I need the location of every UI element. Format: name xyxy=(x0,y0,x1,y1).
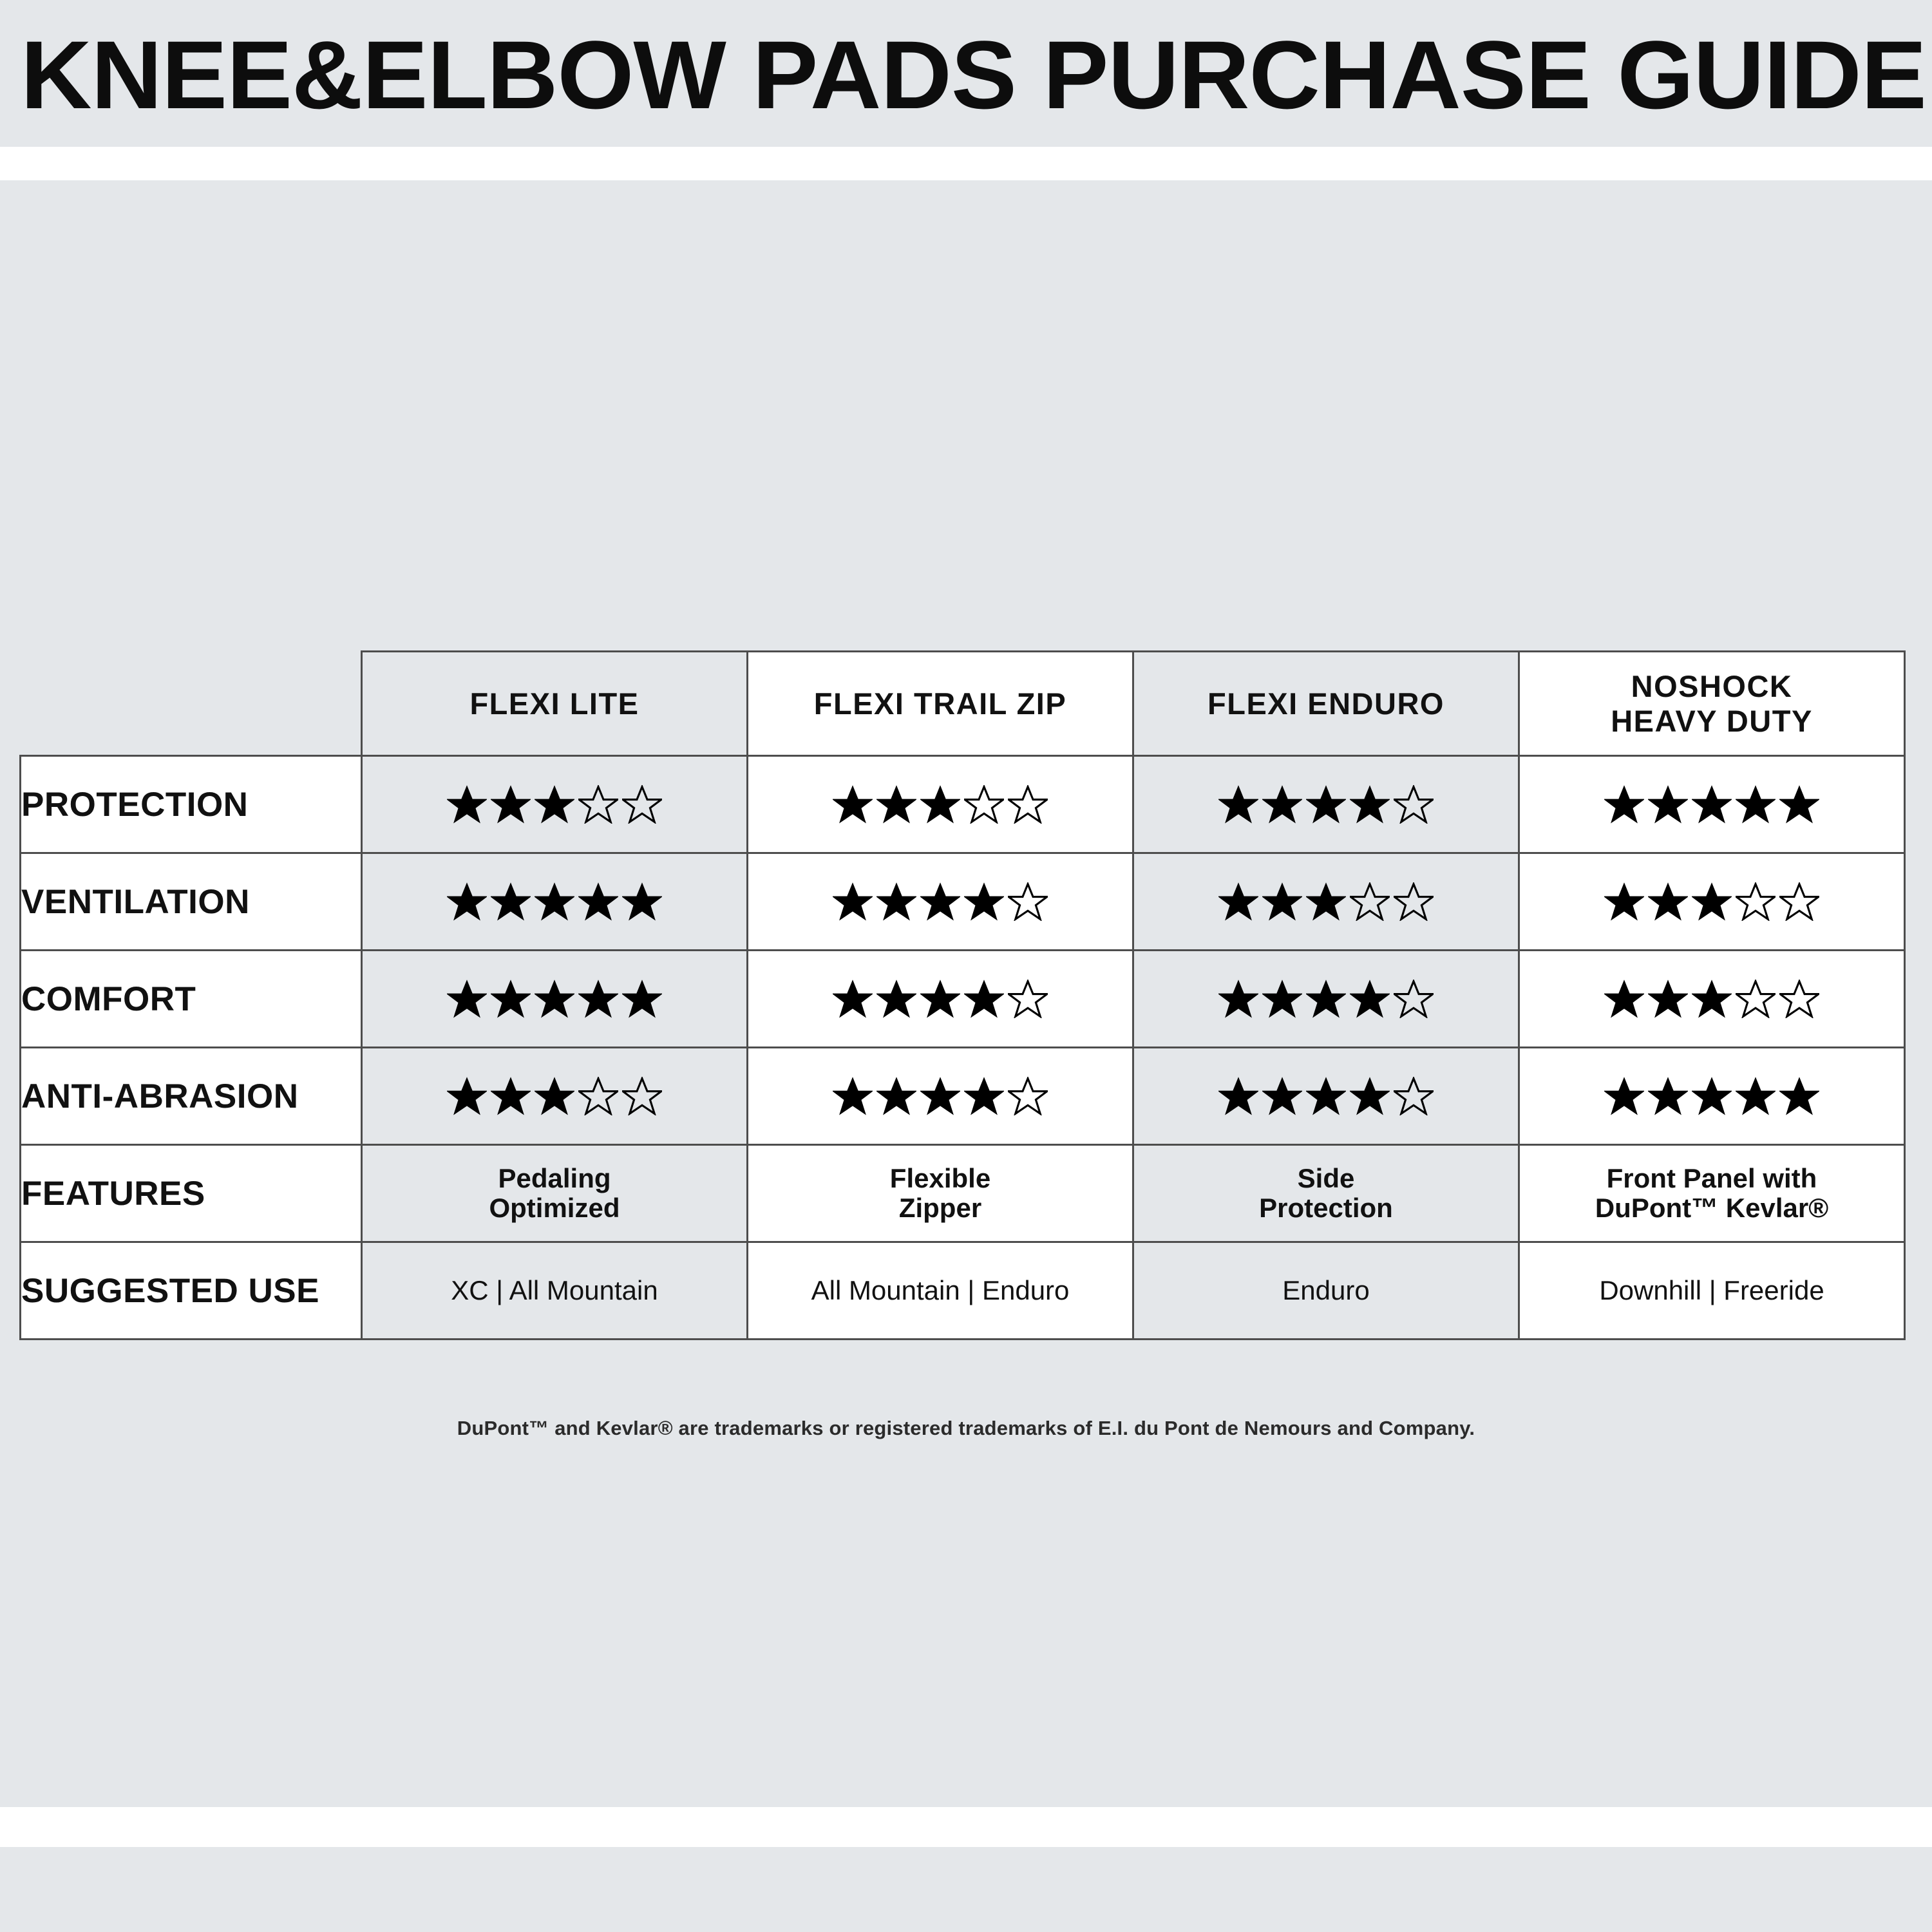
star-filled-icon xyxy=(1604,1077,1644,1115)
star-filled-icon xyxy=(1262,980,1302,1018)
row-label-features: FEATURES xyxy=(21,1145,362,1242)
star-filled-icon xyxy=(1306,1077,1346,1115)
star-filled-icon xyxy=(920,882,960,921)
star-filled-icon xyxy=(1306,785,1346,824)
cell-text: FlexibleZipper xyxy=(748,1161,1132,1226)
star-empty-icon xyxy=(964,785,1004,824)
star-rating xyxy=(1134,882,1518,921)
column-header-flexi-enduro: FLEXI ENDURO xyxy=(1133,652,1519,756)
rating-cell xyxy=(362,853,748,951)
star-filled-icon xyxy=(491,785,531,824)
star-filled-icon xyxy=(491,980,531,1018)
star-filled-icon xyxy=(491,1077,531,1115)
star-empty-icon xyxy=(1350,882,1390,921)
product-comparison-table: FLEXI LITE FLEXI TRAIL ZIP FLEXI ENDURO … xyxy=(19,650,1906,1340)
rating-cell xyxy=(362,951,748,1048)
table-body: PROTECTIONVENTILATIONCOMFORTANTI-ABRASIO… xyxy=(21,756,1905,1340)
star-filled-icon xyxy=(1262,1077,1302,1115)
rating-cell xyxy=(1519,1048,1905,1145)
star-filled-icon xyxy=(833,1077,873,1115)
table-corner-cell xyxy=(21,652,362,756)
star-rating xyxy=(1520,882,1904,921)
star-rating xyxy=(363,882,746,921)
star-filled-icon xyxy=(578,980,618,1018)
table-row: COMFORT xyxy=(21,951,1905,1048)
column-header-flexi-lite: FLEXI LITE xyxy=(362,652,748,756)
star-rating xyxy=(748,785,1132,824)
row-label-protection: PROTECTION xyxy=(21,756,362,853)
rating-cell xyxy=(1133,951,1519,1048)
star-filled-icon xyxy=(1262,882,1302,921)
rating-cell xyxy=(1133,1048,1519,1145)
star-filled-icon xyxy=(833,980,873,1018)
text-cell: Enduro xyxy=(1133,1242,1519,1340)
star-filled-icon xyxy=(1648,882,1688,921)
star-rating xyxy=(1134,1077,1518,1115)
star-filled-icon xyxy=(447,882,487,921)
star-filled-icon xyxy=(1692,980,1732,1018)
star-rating xyxy=(1134,980,1518,1018)
star-rating xyxy=(1520,785,1904,824)
star-filled-icon xyxy=(1218,980,1258,1018)
star-filled-icon xyxy=(1350,980,1390,1018)
cell-text: All Mountain | Enduro xyxy=(748,1273,1132,1308)
star-rating xyxy=(363,1077,746,1115)
table-row: SUGGESTED USEXC | All MountainAll Mounta… xyxy=(21,1242,1905,1340)
table-row: FEATURESPedalingOptimizedFlexibleZipperS… xyxy=(21,1145,1905,1242)
comparison-table-container: FLEXI LITE FLEXI TRAIL ZIP FLEXI ENDURO … xyxy=(19,650,1905,1340)
trademark-footnote: DuPont™ and Kevlar® are trademarks or re… xyxy=(0,1417,1932,1440)
star-empty-icon xyxy=(1394,1077,1434,1115)
star-filled-icon xyxy=(1604,785,1644,824)
rating-cell xyxy=(748,1048,1133,1145)
star-rating xyxy=(1520,980,1904,1018)
star-filled-icon xyxy=(447,785,487,824)
star-empty-icon xyxy=(1779,882,1819,921)
column-header-line: HEAVY DUTY xyxy=(1611,704,1813,738)
star-rating xyxy=(1520,1077,1904,1115)
row-label-ventilation: VENTILATION xyxy=(21,853,362,951)
star-filled-icon xyxy=(920,980,960,1018)
star-filled-icon xyxy=(1692,882,1732,921)
column-header-flexi-trail-zip: FLEXI TRAIL ZIP xyxy=(748,652,1133,756)
star-filled-icon xyxy=(622,882,662,921)
star-filled-icon xyxy=(535,785,574,824)
rating-cell xyxy=(1519,756,1905,853)
star-filled-icon xyxy=(1779,1077,1819,1115)
star-empty-icon xyxy=(1008,980,1048,1018)
top-white-band xyxy=(0,147,1932,180)
star-filled-icon xyxy=(622,980,662,1018)
row-label-suggested-use: SUGGESTED USE xyxy=(21,1242,362,1340)
rating-cell xyxy=(1133,853,1519,951)
star-filled-icon xyxy=(876,882,916,921)
rating-cell xyxy=(748,756,1133,853)
star-filled-icon xyxy=(1779,785,1819,824)
star-filled-icon xyxy=(876,1077,916,1115)
column-header-line: FLEXI TRAIL ZIP xyxy=(814,687,1066,721)
column-header-line: FLEXI ENDURO xyxy=(1207,687,1444,721)
star-empty-icon xyxy=(578,1077,618,1115)
text-cell: SideProtection xyxy=(1133,1145,1519,1242)
star-filled-icon xyxy=(1306,882,1346,921)
star-empty-icon xyxy=(1008,882,1048,921)
rating-cell xyxy=(1133,756,1519,853)
star-filled-icon xyxy=(491,882,531,921)
star-empty-icon xyxy=(1008,1077,1048,1115)
rating-cell xyxy=(748,951,1133,1048)
star-empty-icon xyxy=(1736,882,1776,921)
star-filled-icon xyxy=(447,980,487,1018)
star-filled-icon xyxy=(1262,785,1302,824)
text-cell: Front Panel withDuPont™ Kevlar® xyxy=(1519,1145,1905,1242)
table-row: ANTI-ABRASION xyxy=(21,1048,1905,1145)
rating-cell xyxy=(362,756,748,853)
star-empty-icon xyxy=(1736,980,1776,1018)
star-filled-icon xyxy=(1350,1077,1390,1115)
star-empty-icon xyxy=(1008,785,1048,824)
star-filled-icon xyxy=(1218,785,1258,824)
star-filled-icon xyxy=(1648,980,1688,1018)
star-empty-icon xyxy=(1394,980,1434,1018)
text-cell: PedalingOptimized xyxy=(362,1145,748,1242)
star-filled-icon xyxy=(535,882,574,921)
star-empty-icon xyxy=(1394,882,1434,921)
star-rating xyxy=(748,882,1132,921)
star-filled-icon xyxy=(1648,1077,1688,1115)
rating-cell xyxy=(748,853,1133,951)
star-filled-icon xyxy=(833,882,873,921)
rating-cell xyxy=(362,1048,748,1145)
star-empty-icon xyxy=(578,785,618,824)
row-label-anti-abrasion: ANTI-ABRASION xyxy=(21,1048,362,1145)
rating-cell xyxy=(1519,853,1905,951)
star-rating xyxy=(363,980,746,1018)
star-rating xyxy=(363,785,746,824)
star-filled-icon xyxy=(1218,1077,1258,1115)
star-filled-icon xyxy=(1648,785,1688,824)
star-filled-icon xyxy=(578,882,618,921)
star-rating xyxy=(1134,785,1518,824)
star-empty-icon xyxy=(622,785,662,824)
star-filled-icon xyxy=(964,882,1004,921)
text-cell: XC | All Mountain xyxy=(362,1242,748,1340)
cell-text: Enduro xyxy=(1134,1273,1518,1308)
star-filled-icon xyxy=(833,785,873,824)
text-cell: Downhill | Freeride xyxy=(1519,1242,1905,1340)
star-filled-icon xyxy=(920,785,960,824)
star-rating xyxy=(748,980,1132,1018)
star-empty-icon xyxy=(622,1077,662,1115)
star-filled-icon xyxy=(1692,785,1732,824)
cell-text: SideProtection xyxy=(1134,1161,1518,1226)
text-cell: All Mountain | Enduro xyxy=(748,1242,1133,1340)
star-filled-icon xyxy=(1306,980,1346,1018)
bottom-white-band xyxy=(0,1807,1932,1847)
table-row: PROTECTION xyxy=(21,756,1905,853)
table-header-row: FLEXI LITE FLEXI TRAIL ZIP FLEXI ENDURO … xyxy=(21,652,1905,756)
star-filled-icon xyxy=(920,1077,960,1115)
star-filled-icon xyxy=(1604,882,1644,921)
cell-text: XC | All Mountain xyxy=(363,1273,746,1308)
column-header-noshock-heavy-duty: NOSHOCKHEAVY DUTY xyxy=(1519,652,1905,756)
star-filled-icon xyxy=(876,785,916,824)
star-filled-icon xyxy=(1604,980,1644,1018)
star-filled-icon xyxy=(535,1077,574,1115)
star-empty-icon xyxy=(1394,785,1434,824)
table-row: VENTILATION xyxy=(21,853,1905,951)
cell-text: Front Panel withDuPont™ Kevlar® xyxy=(1520,1161,1904,1226)
star-filled-icon xyxy=(964,980,1004,1018)
page-title: KNEE&ELBOW PADS PURCHASE GUIDE xyxy=(21,23,1932,129)
cell-text: Downhill | Freeride xyxy=(1520,1273,1904,1308)
star-empty-icon xyxy=(1779,980,1819,1018)
text-cell: FlexibleZipper xyxy=(748,1145,1133,1242)
cell-text: PedalingOptimized xyxy=(363,1161,746,1226)
column-header-line: FLEXI LITE xyxy=(469,687,639,721)
rating-cell xyxy=(1519,951,1905,1048)
star-filled-icon xyxy=(964,1077,1004,1115)
star-filled-icon xyxy=(1736,785,1776,824)
star-filled-icon xyxy=(876,980,916,1018)
star-filled-icon xyxy=(535,980,574,1018)
column-header-line: NOSHOCK xyxy=(1631,669,1793,703)
star-filled-icon xyxy=(1736,1077,1776,1115)
star-filled-icon xyxy=(1692,1077,1732,1115)
star-filled-icon xyxy=(447,1077,487,1115)
row-label-comfort: COMFORT xyxy=(21,951,362,1048)
star-filled-icon xyxy=(1218,882,1258,921)
table-header: FLEXI LITE FLEXI TRAIL ZIP FLEXI ENDURO … xyxy=(21,652,1905,756)
star-rating xyxy=(748,1077,1132,1115)
star-filled-icon xyxy=(1350,785,1390,824)
